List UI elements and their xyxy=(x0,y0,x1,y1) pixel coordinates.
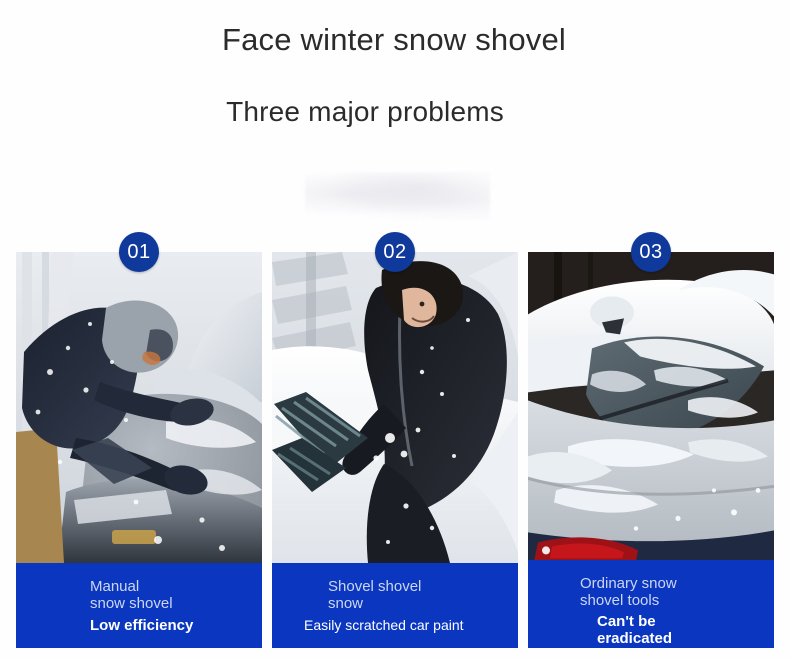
problem-card-list: 01 xyxy=(16,252,774,648)
card-caption-lead: Manual snow shovel xyxy=(90,579,250,613)
card-caption-problem: Low efficiency xyxy=(90,618,250,635)
problem-card[interactable]: 01 xyxy=(16,252,262,648)
page-subtitle: Three major problems xyxy=(0,96,790,128)
card-badge-number: 01 xyxy=(119,232,159,272)
card-caption-problem: Easily scratched car paint xyxy=(304,618,506,634)
problem-card[interactable]: 02 xyxy=(272,252,518,648)
card-badge-number: 03 xyxy=(631,232,671,272)
card-photo xyxy=(16,252,262,563)
card-caption-lead: Shovel shovel snow xyxy=(328,579,506,613)
card-photo xyxy=(528,252,774,560)
problem-card[interactable]: 03 xyxy=(528,252,774,648)
card-caption: Ordinary snow shovel tools Can't be erad… xyxy=(528,560,774,648)
background-watermark xyxy=(305,172,490,220)
card-caption-lead: Ordinary snow shovel tools xyxy=(580,576,762,610)
card-caption-problem: Can't be eradicated xyxy=(597,614,762,648)
card-caption: Shovel shovel snow Easily scratched car … xyxy=(272,563,518,648)
page-header: Face winter snow shovel Three major prob… xyxy=(0,0,790,128)
card-caption: Manual snow shovel Low efficiency xyxy=(16,563,262,648)
card-photo xyxy=(272,252,518,563)
card-badge-number: 02 xyxy=(375,232,415,272)
page-title: Face winter snow shovel xyxy=(0,22,790,58)
